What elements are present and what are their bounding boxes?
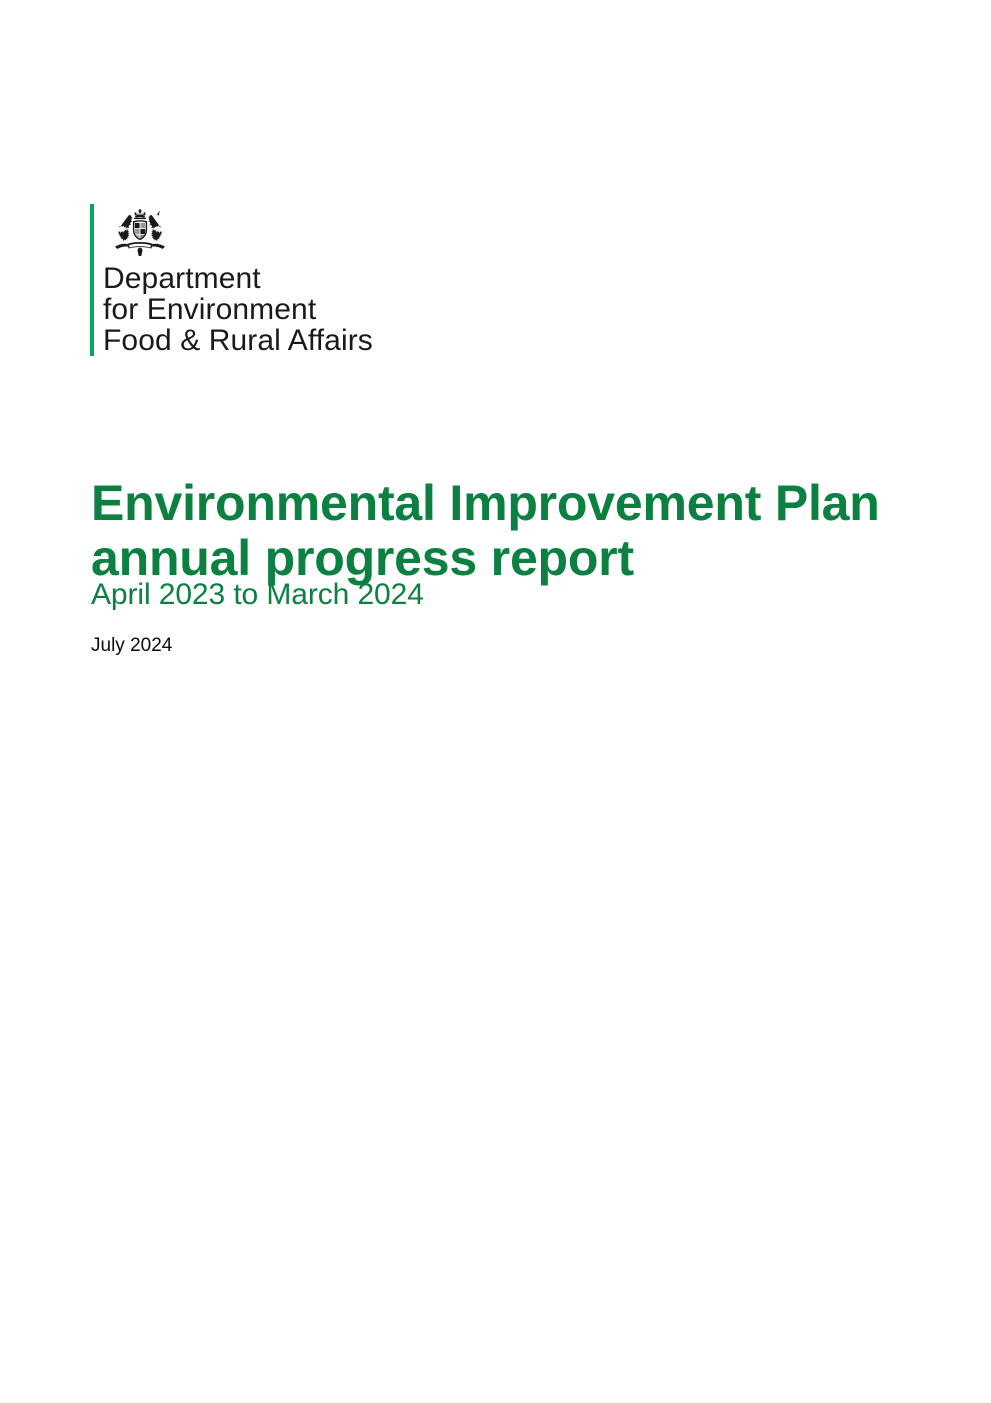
royal-coat-of-arms-crest-icon [105,207,175,257]
logo-line-1: Department [103,263,373,294]
page-title-line-1: Environmental Improvement Plan [91,476,881,531]
document-cover-page: Department for Environment Food & Rural … [0,0,991,1403]
logo-line-2: for Environment [103,294,373,325]
publication-date: July 2024 [91,634,172,658]
logo-line-3: Food & Rural Affairs [103,325,373,356]
page-subtitle-reporting-period: April 2023 to March 2024 [91,578,424,612]
logo-body: Department for Environment Food & Rural … [94,204,373,356]
page-title: Environmental Improvement Plan annual pr… [91,476,881,586]
defra-logo-text: Department for Environment Food & Rural … [103,263,373,356]
defra-logo: Department for Environment Food & Rural … [90,204,373,356]
